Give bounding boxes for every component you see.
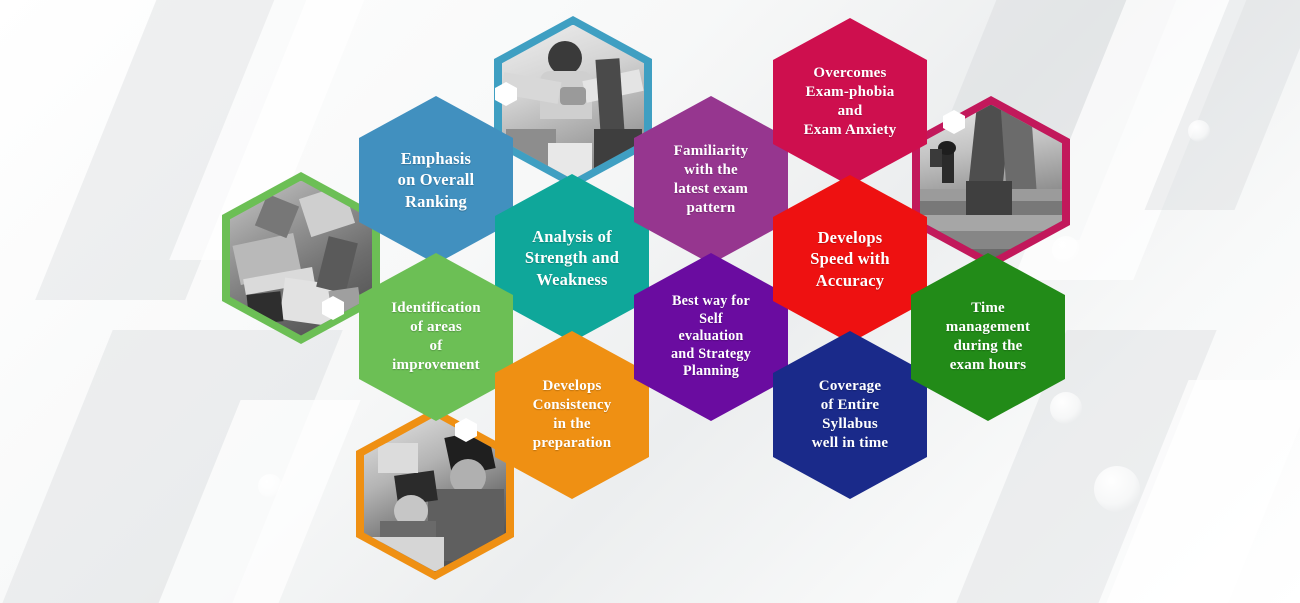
hex-label-overcomes-exam-phobia: Overcomes Exam-phobia and Exam Anxiety bbox=[795, 64, 906, 140]
hex-label-emphasis-ranking: Emphasis on Overall Ranking bbox=[385, 148, 488, 212]
photo-art-team bbox=[364, 417, 506, 572]
photo-art-desk bbox=[230, 181, 372, 336]
photo-image-desk-devices bbox=[230, 181, 372, 336]
hex-label-best-way-self-evaluation: Best way for Self evaluation and Strateg… bbox=[664, 293, 758, 381]
hex-label-familiarity-exam-pattern: Familiarity with the latest exam pattern bbox=[665, 142, 758, 218]
photo-image-team-working bbox=[364, 417, 506, 572]
photo-image-handshake bbox=[502, 25, 644, 180]
hex-label-develops-consistency: Develops Consistency in the preparation bbox=[524, 377, 621, 453]
infographic-canvas: Emphasis on Overall Ranking Analysis of … bbox=[0, 0, 1300, 603]
hex-label-time-management: Time management during the exam hours bbox=[937, 299, 1040, 375]
hex-label-coverage-entire-syllabus: Coverage of Entire Syllabus well in time bbox=[803, 377, 898, 453]
hex-label-identification-improvement: Identification of areas of improvement bbox=[382, 299, 489, 375]
photo-art-stairs bbox=[920, 105, 1062, 260]
hex-label-develops-speed-accuracy: Develops Speed with Accuracy bbox=[797, 227, 902, 291]
hex-label-analysis-strength-weakness: Analysis of Strength and Weakness bbox=[512, 226, 632, 290]
photo-image-stairs-walker bbox=[920, 105, 1062, 260]
photo-art-handshake bbox=[502, 25, 644, 180]
